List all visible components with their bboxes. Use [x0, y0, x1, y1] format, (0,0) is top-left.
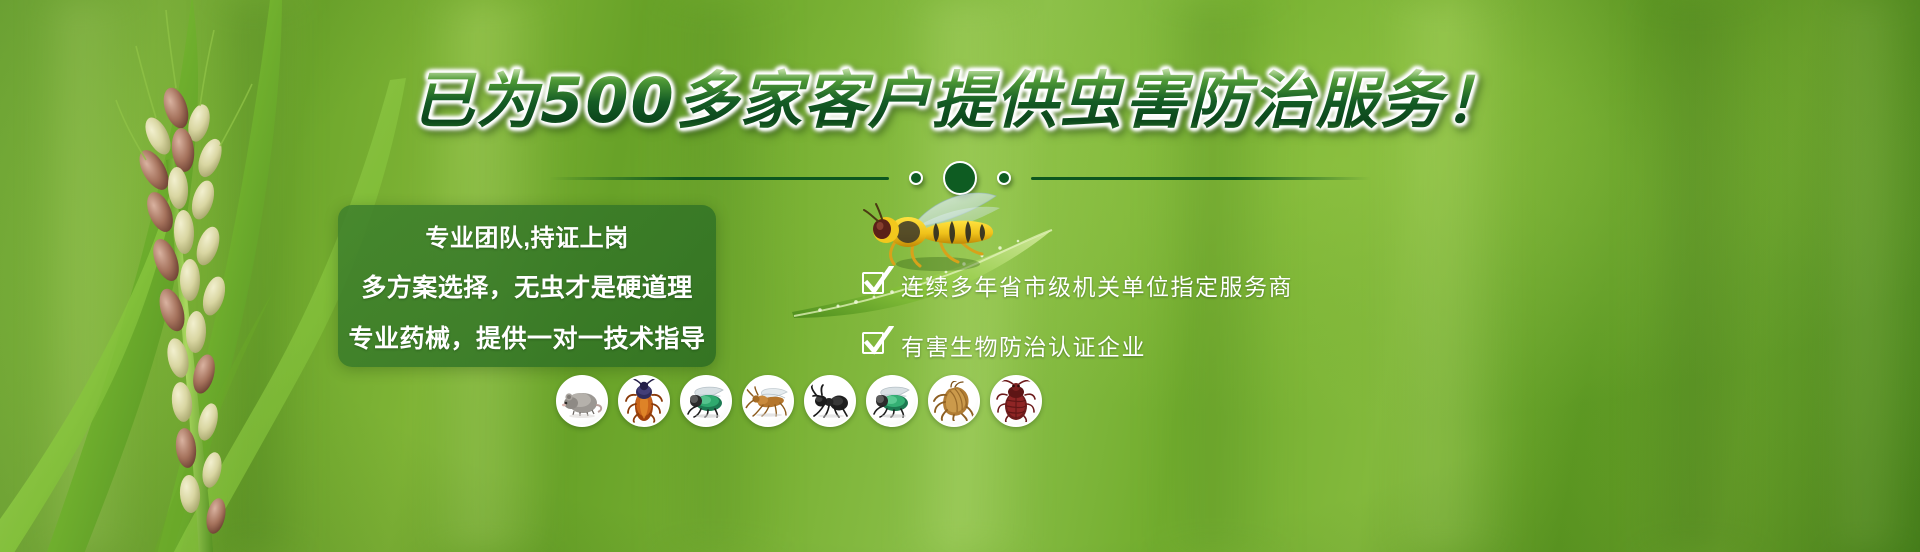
selling-point-line-1: 专业团队,持证上岗	[425, 218, 628, 253]
pest-icon-cockroach[interactable]	[618, 375, 670, 427]
checklist-item: 有害生物防治认证企业	[862, 328, 1293, 362]
divider-line-left	[549, 177, 889, 180]
checkbox-checked-icon	[862, 332, 888, 358]
pest-icon-bedbug[interactable]	[990, 375, 1042, 427]
housefly-icon	[869, 384, 915, 418]
bedbug-icon	[996, 380, 1036, 422]
checklist-item: 连续多年省市级机关单位指定服务商	[862, 268, 1293, 302]
selling-point-line-2: 多方案选择，无虫才是硬道理	[361, 268, 693, 304]
pest-icon-flea[interactable]	[928, 375, 980, 427]
cockroach-icon	[624, 379, 664, 423]
promo-banner: 已为500多家客户提供虫害防治服务！ 专业团队,持证上岗 多方案选择，无虫才是硬…	[0, 0, 1920, 552]
pest-icon-rat[interactable]	[556, 375, 608, 427]
blowfly-icon	[683, 384, 729, 418]
divider-line-right	[1031, 177, 1371, 180]
small-dot-icon	[997, 171, 1011, 185]
pest-icon-housefly[interactable]	[866, 375, 918, 427]
flea-icon	[933, 381, 975, 421]
pest-types-row	[556, 375, 1042, 427]
mosquito-icon	[745, 384, 791, 418]
pest-icon-ant[interactable]	[804, 375, 856, 427]
rat-icon	[560, 384, 604, 418]
headline-container: 已为500多家客户提供虫害防治服务！	[0, 68, 1920, 135]
checklist-item-label: 连续多年省市级机关单位指定服务商	[901, 268, 1293, 302]
pest-icon-blowfly[interactable]	[680, 375, 732, 427]
ant-icon	[809, 383, 851, 419]
checklist-item-label: 有害生物防治认证企业	[901, 328, 1146, 362]
checkbox-checked-icon	[862, 272, 888, 298]
selling-points-panel: 专业团队,持证上岗 多方案选择，无虫才是硬道理 专业药械，提供一对一技术指导	[338, 205, 716, 367]
certification-checklist: 连续多年省市级机关单位指定服务商 有害生物防治认证企业	[862, 268, 1293, 362]
pest-icon-mosquito[interactable]	[742, 375, 794, 427]
selling-point-line-3: 专业药械，提供一对一技术指导	[348, 319, 705, 355]
small-dot-icon	[909, 171, 923, 185]
banner-headline: 已为500多家客户提供虫害防治服务！	[412, 68, 1507, 135]
